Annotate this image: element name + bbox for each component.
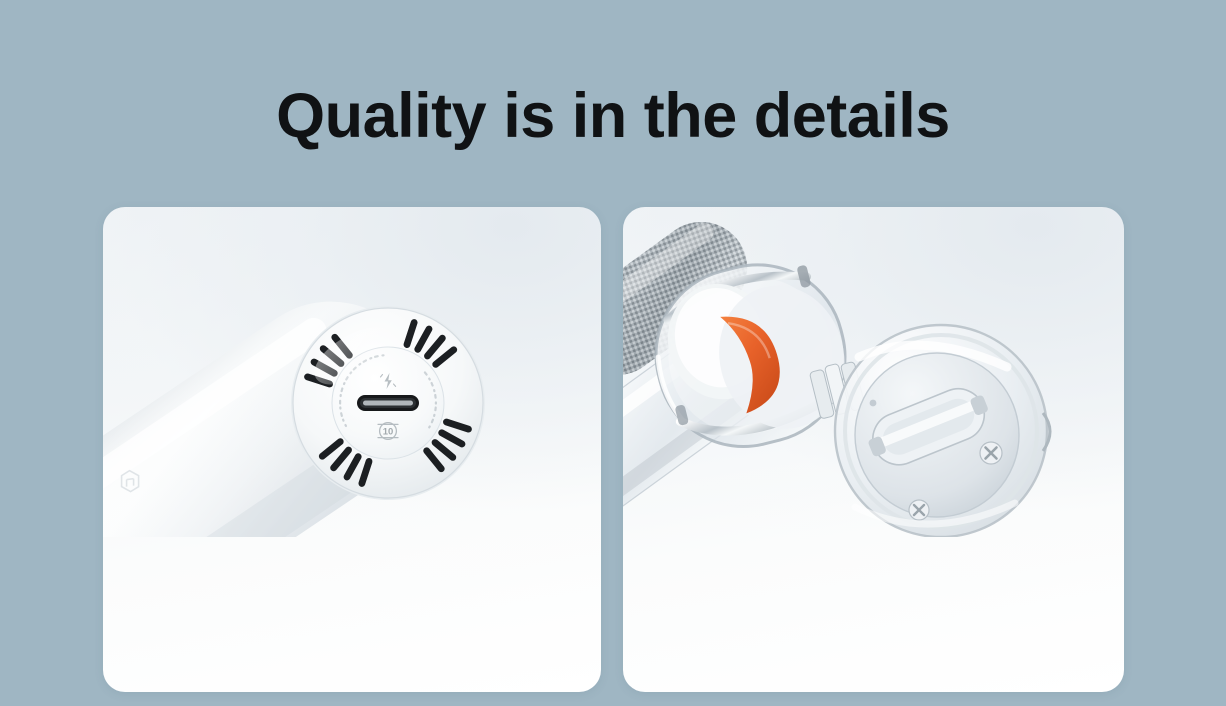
feature-card-abs-dust-shield: ABS hard dust shield Airtight, prevents … <box>623 207 1124 692</box>
transparent-dust-cup-open-lid-photo <box>623 207 1124 537</box>
end-cap: 10 <box>291 306 485 500</box>
page-title: Quality is in the details <box>0 78 1226 154</box>
feature-card-type-c-port: 10 Type-C port compatibility Compatible … <box>103 207 601 692</box>
recycle-mark-value: 10 <box>383 426 394 437</box>
dust-shield-lid <box>835 325 1050 537</box>
screw-icon <box>909 500 929 520</box>
usb-c-port <box>357 395 419 411</box>
marketing-slide: Quality is in the details <box>0 0 1226 706</box>
screw-icon <box>980 442 1002 464</box>
white-vacuum-bottom-endcap-photo: 10 <box>103 207 601 537</box>
